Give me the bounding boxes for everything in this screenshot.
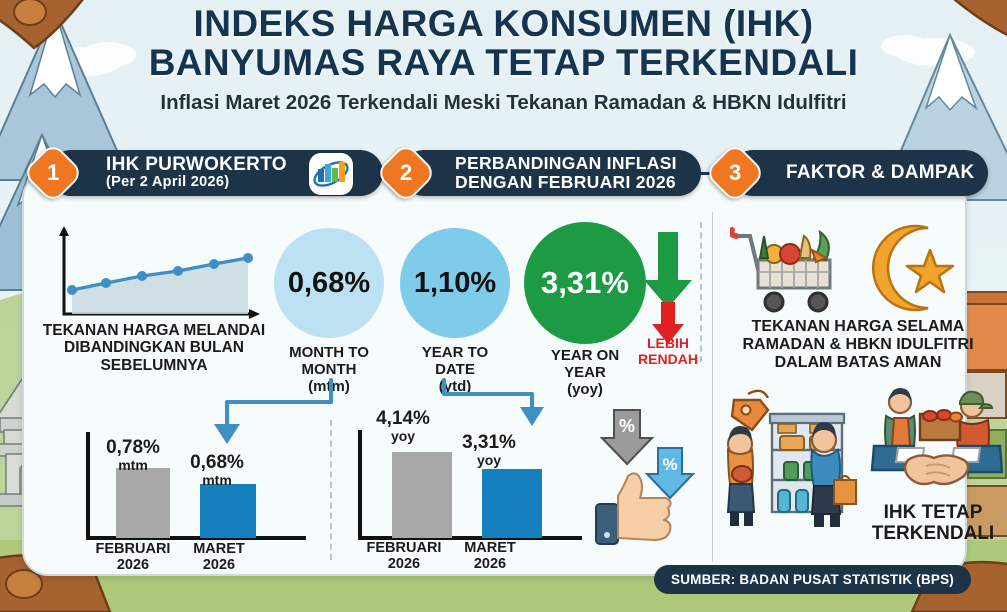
impact-caption-l2: RAMADAN & HBKN IDULFITRI <box>716 336 1000 354</box>
section-1-number: 1 <box>47 160 59 186</box>
section-pill-2[interactable]: PERBANDINGAN INFLASI DENGAN FEBRUARI 202… <box>401 150 701 196</box>
mtm-bar-2-category: MARET 2026 <box>167 541 271 573</box>
yoy-bar-2-category: MARET 2026 <box>438 540 542 572</box>
lower-badge: LEBIH RENDAH <box>624 336 712 367</box>
section-1-title: IHK PURWOKERTO <box>106 155 287 175</box>
mtm-cat-2-l2: 2026 <box>167 557 271 573</box>
crescent-star-icon <box>862 222 958 318</box>
lower-badge-l2: RENDAH <box>624 352 712 368</box>
impact-result-l2: TERKENDALI <box>858 523 1007 544</box>
title-line-2: BANYUMAS RAYA TETAP TERKENDALI <box>0 43 1007 82</box>
title-line-1: INDEKS HARGA KONSUMEN (IHK) <box>0 4 1007 43</box>
mtm-bar-2-value-text: 0,68% <box>167 452 267 473</box>
section-2-title: PERBANDINGAN INFLASI <box>455 154 677 173</box>
metric-mtm-value: 0,68% <box>288 267 370 300</box>
page-subtitle: Inflasi Maret 2026 Terkendali Meski Teka… <box>0 91 1007 115</box>
yoy-cat-2-l2: 2026 <box>438 556 542 572</box>
trend-line-chart <box>34 222 264 327</box>
metric-yoy-value: 3,31% <box>541 265 629 301</box>
impact-caption-l3: DALAM BATAS AMAN <box>716 354 1000 372</box>
section-2-number: 2 <box>400 160 412 186</box>
yoy-bar-2-value-text: 3,31% <box>432 432 546 453</box>
trend-caption-l3: SEBELUMNYA <box>34 357 274 374</box>
handshake-illustration <box>868 388 1007 498</box>
lower-badge-l1: LEBIH <box>624 336 712 352</box>
shopping-cart-icon <box>730 224 850 319</box>
yoy-bar-2-value: 3,31% yoy <box>432 432 546 469</box>
metric-ytd-label-l2: DATE <box>390 362 520 379</box>
section-pill-3[interactable]: FAKTOR & DAMPAK <box>730 150 988 196</box>
section-3-number: 3 <box>729 160 741 186</box>
section-1-subtitle: (Per 2 April 2026) <box>106 175 287 190</box>
metric-circle-ytd: 1,10% <box>400 228 510 338</box>
yoy-bar-1-value-text: 4,14% <box>348 408 458 429</box>
page-title: INDEKS HARGA KONSUMEN (IHK) BANYUMAS RAY… <box>0 4 1007 115</box>
section-3-title: FAKTOR & DAMPAK <box>786 163 975 183</box>
metric-circle-mtm: 0,68% <box>274 228 384 338</box>
divider-section-3 <box>712 212 713 562</box>
metric-ytd-value: 1,10% <box>414 267 496 300</box>
mtm-bar-2-value: 0,68% mtm <box>167 452 267 489</box>
trend-caption-l1: TEKANAN HARGA MELANDAI <box>34 322 274 339</box>
metric-ytd-label-l1: YEAR TO <box>390 345 520 362</box>
section-header-bar: IHK PURWOKERTO (Per 2 April 2026) 1 PERB… <box>26 150 986 202</box>
mtm-cat-2-l1: MARET <box>167 541 271 557</box>
impact-caption: TEKANAN HARGA SELAMA RAMADAN & HBKN IDUL… <box>716 318 1000 372</box>
metric-circle-yoy: 3,31% <box>524 222 646 344</box>
metric-mtm-label-l2: MONTH <box>264 362 394 379</box>
source-text: SUMBER: BADAN PUSAT STATISTIK (BPS) <box>671 572 954 587</box>
shoppers-illustration <box>716 388 866 538</box>
bps-logo-icon <box>309 153 353 195</box>
source-pill: SUMBER: BADAN PUSAT STATISTIK (BPS) <box>654 565 971 594</box>
metric-mtm-label-l1: MONTH TO <box>264 345 394 362</box>
impact-result-l1: IHK TETAP <box>858 502 1007 523</box>
impact-caption-l1: TEKANAN HARGA SELAMA <box>716 318 1000 336</box>
impact-result: IHK TETAP TERKENDALI <box>858 502 1007 545</box>
section-2-subtitle: DENGAN FEBRUARI 2026 <box>455 173 677 192</box>
trend-caption: TEKANAN HARGA MELANDAI DIBANDINGKAN BULA… <box>34 322 274 374</box>
trend-caption-l2: DIBANDINGKAN BULAN <box>34 339 274 356</box>
thumbs-up-icon <box>592 470 688 546</box>
svg-text:%: % <box>619 416 635 436</box>
mtm-bar-2-unit: mtm <box>167 473 267 489</box>
yoy-cat-2-l1: MARET <box>438 540 542 556</box>
yoy-bar-2-unit: yoy <box>432 453 546 469</box>
